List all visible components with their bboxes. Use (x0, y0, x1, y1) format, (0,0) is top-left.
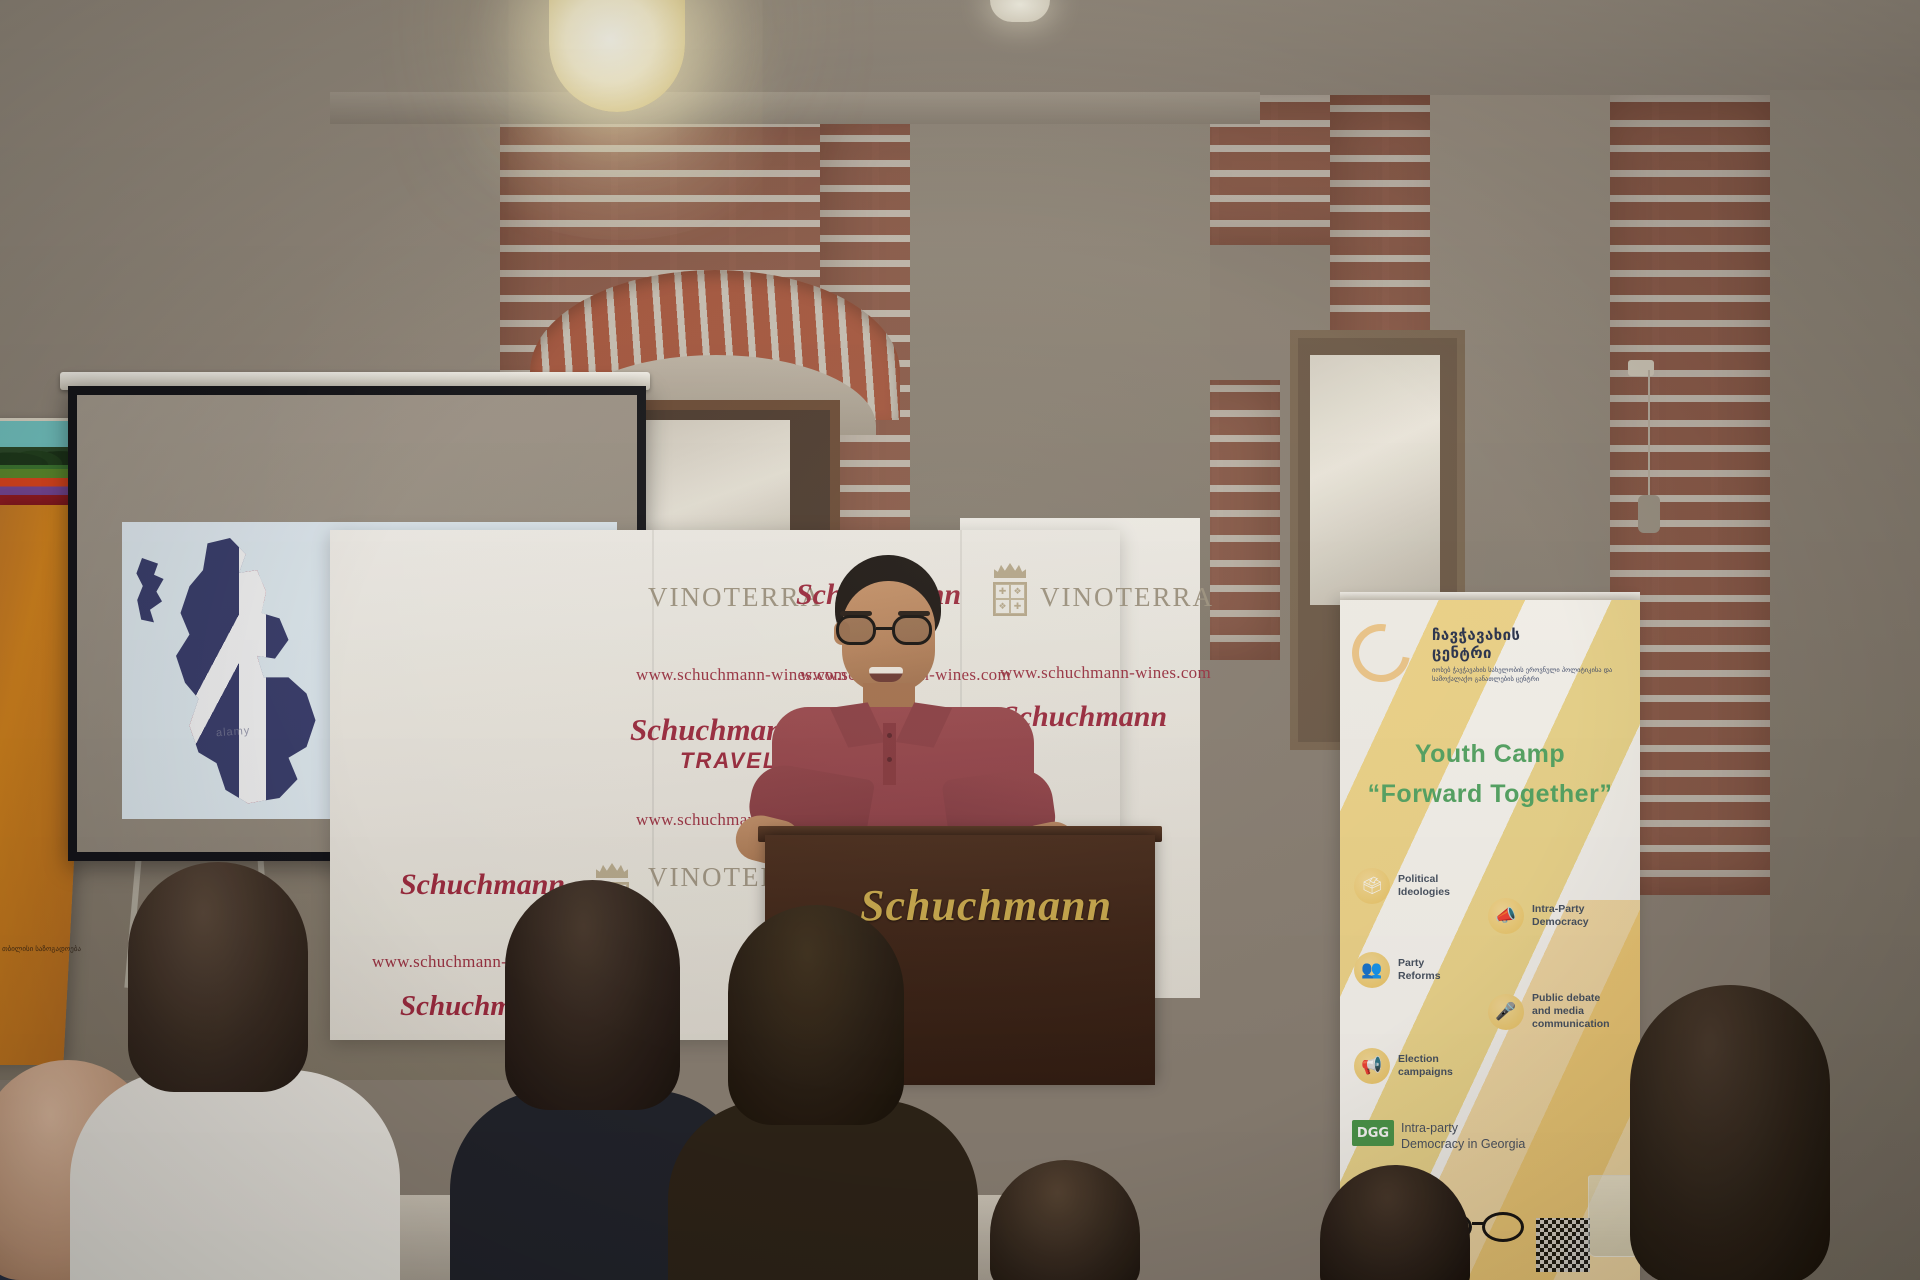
eyeglass-bridge (876, 627, 894, 630)
audience-member-shoulders (70, 1070, 400, 1280)
crown-icon (596, 862, 628, 878)
eyeglasses-icon (834, 615, 942, 645)
conference-photo-scene: თბილისი საზოგადოება alamy (0, 0, 1920, 1280)
banner-footer-text: Intra-party Democracy in Georgia (1401, 1120, 1525, 1152)
youth-camp-subtitle: “Forward Together” (1340, 780, 1640, 809)
feature-party-reforms: 👥 Party Reforms (1354, 952, 1441, 988)
youth-camp-title: Youth Camp (1340, 740, 1640, 769)
window-glass-right (1310, 355, 1440, 605)
campaign-icon: 📢 (1354, 1048, 1390, 1084)
audience-member-head (728, 905, 904, 1125)
audience-member-head (505, 880, 680, 1110)
people-icon: 👥 (1354, 952, 1390, 988)
eyeglass-lens (1482, 1212, 1524, 1242)
feature-election-campaigns: 📢 Election campaigns (1354, 1048, 1453, 1084)
audience-member-head (1630, 985, 1830, 1280)
feature-political-ideologies: 🗳 Political Ideologies (1354, 868, 1450, 904)
alamy-watermark: alamy (216, 725, 251, 739)
polo-button (887, 733, 892, 738)
feature-public-debate-media: 🎤 Public debate and media communication (1488, 992, 1610, 1031)
uk-outer-isles (134, 558, 174, 628)
banner-footer: DGG Intra-party Democracy in Georgia (1340, 1120, 1640, 1152)
ballot-box-icon: 🗳 (1354, 868, 1390, 904)
feature-label: Intra-Party Democracy (1532, 903, 1589, 929)
organization-logo-icon (1341, 613, 1422, 694)
eyeglass-lens (892, 615, 932, 645)
feature-label: Political Ideologies (1398, 873, 1450, 899)
presenter-mouth (869, 667, 903, 682)
megaphone-icon: 📣 (1488, 898, 1524, 934)
orange-banner-text: თბილისი საზოგადოება (2, 945, 95, 955)
microphone-icon: 🎤 (1488, 994, 1524, 1030)
feature-intra-party-democracy: 📣 Intra-Party Democracy (1488, 898, 1589, 934)
audience-member-head (990, 1160, 1140, 1280)
eyeglass-lens (836, 615, 876, 645)
eyeglass-bridge (1472, 1222, 1484, 1225)
painting-hills (0, 443, 77, 465)
lectern-wordmark: Schuchmann (860, 880, 1160, 931)
audience-member-head (128, 862, 308, 1092)
ceiling-beam (330, 92, 1260, 124)
audience-member-shoulders (668, 1100, 978, 1280)
feature-label: Party Reforms (1398, 957, 1441, 983)
org-title-line-1: ჩავჭავახის (1432, 626, 1627, 644)
qr-code-icon (1536, 1218, 1590, 1272)
org-title-georgian: ჩავჭავახის ცენტრი (1432, 626, 1627, 662)
window-blind-weight (1638, 495, 1660, 533)
org-title-line-2: ცენტრი (1432, 644, 1627, 662)
org-subtitle-georgian: იოსებ ჭავჭავახის სახელობის ეროვნული პოლი… (1432, 666, 1627, 684)
window-latch-icon (1628, 360, 1654, 376)
polo-button (887, 757, 892, 762)
window-blind-cord (1648, 370, 1650, 500)
feature-label: Public debate and media communication (1532, 992, 1610, 1031)
feature-label: Election campaigns (1398, 1053, 1453, 1079)
dgg-logo: DGG (1352, 1120, 1394, 1146)
